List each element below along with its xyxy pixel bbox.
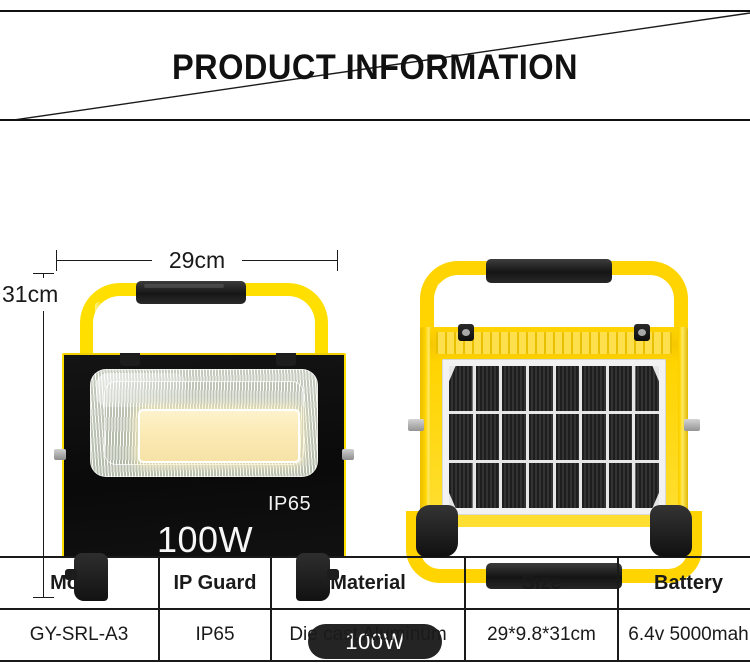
- ip-rating-text: IP65: [268, 493, 311, 516]
- dimension-height-line: [43, 273, 44, 598]
- wattage-text: 100W: [157, 519, 253, 561]
- led-lens-inner-ring: [104, 381, 304, 465]
- dimension-width-label: 29cm: [152, 245, 242, 275]
- solar-cell: [556, 414, 580, 459]
- dimension-height-label: 31cm: [2, 278, 58, 311]
- solar-cell: [635, 414, 659, 459]
- dimension-width-cap-right: [337, 250, 338, 271]
- page-title: PRODUCT INFORMATION: [26, 12, 724, 121]
- specification-table: Model IP Guard Material Size Battery GY-…: [0, 556, 750, 662]
- hinge-knob-left: [408, 419, 424, 431]
- solar-pivot-joint-right: [650, 505, 692, 557]
- solar-cell: [556, 463, 580, 508]
- hinge-knob-right: [684, 419, 700, 431]
- pivot-foot-right: [296, 553, 330, 601]
- solar-cell: [609, 366, 633, 411]
- body-mount-tab-left: [120, 353, 140, 366]
- solar-cell: [609, 463, 633, 508]
- dimension-height-cap-top: [33, 273, 54, 274]
- side-screw-left: [54, 449, 66, 460]
- solar-cell: [476, 463, 500, 508]
- dimension-height: [33, 273, 55, 598]
- table-row: GY-SRL-A3 IP65 Die cast Aluminum 29*9.8*…: [0, 609, 750, 661]
- solar-pivot-joint-left: [416, 505, 458, 557]
- solar-cell: [476, 366, 500, 411]
- solar-cell-grid: [449, 366, 659, 508]
- solar-panel: [442, 359, 666, 515]
- solar-cell: [529, 366, 553, 411]
- header-banner: PRODUCT INFORMATION: [0, 10, 750, 121]
- table-header-battery: Battery: [618, 557, 750, 609]
- solar-cell: [449, 414, 473, 459]
- table-header-size: Size: [465, 557, 618, 609]
- solar-cell: [582, 463, 606, 508]
- housing-screw-left: [458, 324, 474, 341]
- solar-cell: [635, 366, 659, 411]
- table-cell-material: Die cast Aluminum: [271, 609, 465, 661]
- solar-cell: [502, 366, 526, 411]
- solar-cell: [609, 414, 633, 459]
- housing-screw-right: [634, 324, 650, 341]
- solar-carry-handle-grip: [486, 259, 612, 283]
- solar-cell: [582, 366, 606, 411]
- dimension-width-cap-left: [56, 250, 57, 271]
- table-cell-battery: 6.4v 5000mah: [618, 609, 750, 661]
- solar-cell: [556, 366, 580, 411]
- solar-housing: [430, 327, 678, 527]
- table-cell-size: 29*9.8*31cm: [465, 609, 618, 661]
- solar-cell: [529, 463, 553, 508]
- dimension-width: 29cm: [56, 247, 338, 273]
- solar-cell: [502, 463, 526, 508]
- body-mount-tab-right: [276, 353, 296, 366]
- solar-cell: [502, 414, 526, 459]
- table-header-ip-guard: IP Guard: [159, 557, 271, 609]
- solar-cell: [529, 414, 553, 459]
- pivot-foot-left: [74, 553, 108, 601]
- solar-cell: [449, 366, 473, 411]
- carry-handle-grip: [136, 281, 246, 304]
- solar-cell: [449, 463, 473, 508]
- table-header-row: Model IP Guard Material Size Battery: [0, 557, 750, 609]
- led-lens-panel: [90, 369, 318, 477]
- solar-cell: [635, 463, 659, 508]
- led-emitter-core: [138, 409, 300, 463]
- solar-cell: [582, 414, 606, 459]
- solar-cell: [476, 414, 500, 459]
- product-showcase: 29cm 31cm IP65 100W: [0, 121, 750, 557]
- table-cell-ip-guard: IP65: [159, 609, 271, 661]
- side-screw-right: [342, 449, 354, 460]
- table-cell-model: GY-SRL-A3: [0, 609, 159, 661]
